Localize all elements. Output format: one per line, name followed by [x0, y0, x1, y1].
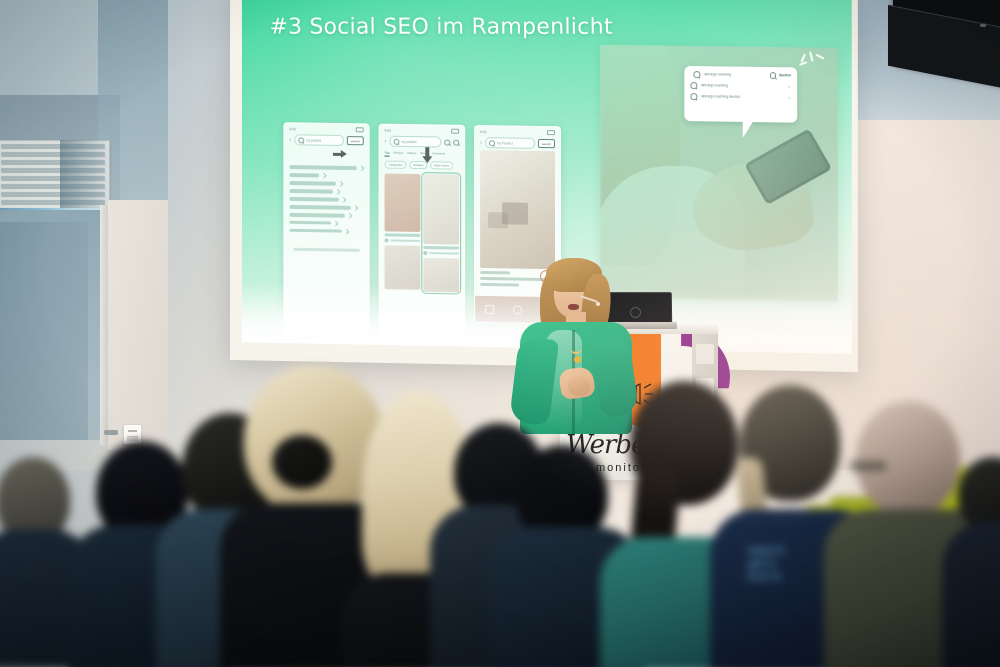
arrow-up-left-icon: ↖: [788, 84, 791, 89]
list-item: [289, 221, 363, 226]
audience-head: [856, 401, 960, 515]
back-arrow-icon: ‹: [385, 138, 387, 144]
phone-search-row: ‹ my product search: [284, 132, 368, 148]
presentation-photo: #3 Social SEO im Rampenlicht 9:41 ‹ my p…: [0, 0, 1000, 667]
result-thumbnail: [385, 174, 421, 232]
search-input: my product: [389, 136, 441, 148]
hair-bun: [272, 435, 332, 489]
results-column-left: [385, 174, 421, 292]
search-value: my product: [401, 139, 417, 143]
status-time: 9:41: [289, 127, 296, 131]
bubble-suggestion: nahrungs coaching deutsch: [700, 94, 785, 99]
list-item: [289, 229, 363, 234]
audience: want it. get it. love it.: [0, 367, 1000, 667]
pointer-arrow-right-icon: [333, 150, 348, 159]
search-icon: [690, 82, 697, 89]
share-icon: [453, 139, 459, 145]
tshirt-text: want it. get it. love it.: [748, 545, 786, 584]
glasses-icon: [850, 461, 886, 471]
brooch-icon: [574, 356, 581, 363]
slide-title: #3 Social SEO im Rampenlicht: [269, 15, 613, 40]
audience-body: [942, 521, 1000, 667]
sparkle-icon: [799, 51, 823, 73]
settings-icon: [444, 139, 450, 145]
list-item: [289, 173, 363, 178]
list-item: [289, 181, 363, 186]
presenter-mouth: [568, 304, 579, 310]
ceiling-speaker-mount: [980, 24, 986, 27]
search-value: my Product: [497, 141, 513, 145]
list-item: [289, 213, 363, 218]
suggestion-list: [284, 163, 368, 234]
search-speech-bubble: nahrungs coaching Suchen nahrungs coachi…: [684, 66, 797, 123]
bubble-search-button: Suchen: [779, 73, 791, 77]
list-item: [289, 197, 363, 202]
search-icon: [690, 93, 697, 100]
search-icon: [489, 140, 495, 146]
battery-icon: [547, 130, 555, 135]
pointer-arrow-down-icon: [422, 147, 432, 164]
search-button: search: [538, 139, 555, 148]
tab-accounts: Accounts: [432, 151, 445, 157]
search-icon: [393, 138, 399, 144]
headset-mic-capsule: [596, 302, 600, 306]
status-time: 9:41: [480, 130, 487, 134]
bubble-row: nahrungs coaching deutsch ↖: [690, 93, 791, 101]
tab-top: Top: [385, 151, 390, 157]
list-item: [289, 165, 363, 170]
search-icon: [298, 137, 304, 143]
see-all-results-row: [293, 248, 359, 252]
bubble-row: nahrungs coaching ↖: [690, 82, 791, 90]
phone-search-row: ‹ my Product search: [475, 135, 560, 151]
results-column-right-highlighted: [423, 174, 459, 293]
search-icon: [693, 71, 700, 78]
chip-categories: Categories: [385, 161, 407, 169]
audience-person: [952, 457, 1000, 667]
search-button: search: [347, 136, 364, 145]
bubble-query: nahrungs coaching: [703, 72, 767, 77]
bubble-row: nahrungs coaching Suchen: [690, 71, 791, 79]
avatar: [423, 251, 427, 255]
battery-icon: [451, 129, 459, 134]
vent-shadow: [60, 140, 112, 210]
list-item: [289, 205, 363, 210]
clock-icon: [770, 72, 777, 79]
result-thumbnail: [385, 245, 421, 290]
search-input: my product: [294, 134, 344, 146]
tab-videos: Videos: [407, 151, 416, 157]
search-input: my Product: [485, 137, 535, 149]
battery-icon: [356, 127, 364, 132]
chip-recent: Most recent: [430, 161, 453, 169]
tab-photos: Photos: [393, 151, 403, 157]
result-thumbnail-highlighted: [423, 174, 459, 244]
arrow-up-left-icon: ↖: [788, 95, 791, 100]
avatar: [385, 239, 389, 243]
back-arrow-icon: ‹: [480, 140, 482, 146]
results-grid: [380, 170, 465, 295]
back-arrow-icon: ‹: [289, 137, 291, 143]
list-item: [289, 189, 363, 194]
bubble-suggestion: nahrungs coaching: [700, 83, 785, 88]
search-placeholder: my product: [306, 138, 322, 142]
status-time: 9:41: [385, 128, 392, 132]
